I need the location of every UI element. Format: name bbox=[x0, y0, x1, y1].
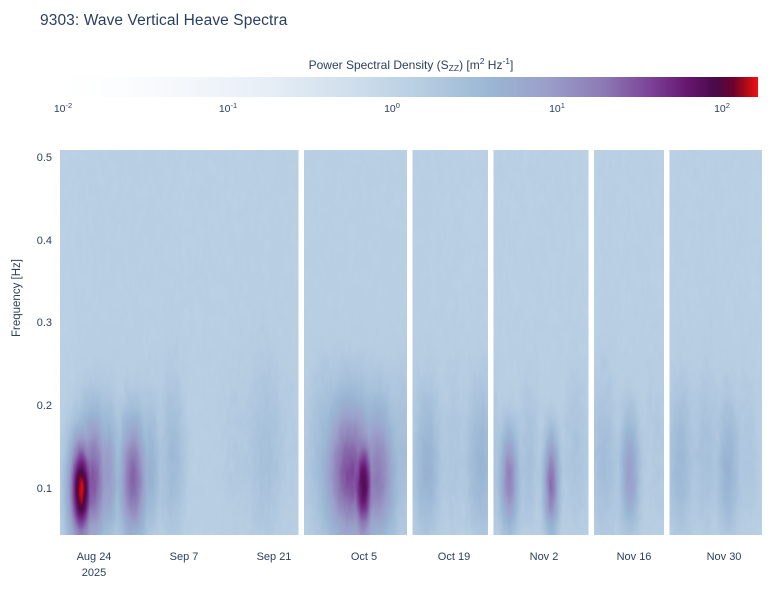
colorbar-title-mid: ) [m bbox=[459, 58, 480, 72]
x-axis-tick-7: Nov 30 bbox=[707, 549, 742, 565]
y-axis-label: Frequency [Hz] bbox=[11, 243, 23, 353]
colorbar-tick-1: 10-1 bbox=[219, 103, 237, 115]
y-axis-tick-0: 0.5 bbox=[37, 152, 52, 164]
x-axis-tick-1: Sep 7 bbox=[170, 549, 199, 565]
colorbar-tick-4: 102 bbox=[714, 103, 730, 115]
x-axis-tick-6: Nov 16 bbox=[617, 549, 652, 565]
colorbar-title: Power Spectral Density (SZZ) [m2 Hz-1] bbox=[60, 58, 762, 72]
colorbar-title-sup-area: 2 bbox=[480, 56, 485, 66]
colorbar-title-sup-hz: -1 bbox=[502, 56, 510, 66]
colorbar-tick-0: 10-2 bbox=[54, 103, 72, 115]
heatmap-canvas[interactable] bbox=[60, 150, 762, 535]
y-axis-tick-1: 0.4 bbox=[37, 235, 52, 247]
y-axis-tick-3: 0.2 bbox=[37, 400, 52, 412]
colorbar-title-suffix: ] bbox=[510, 58, 513, 72]
colorbar-tick-3: 101 bbox=[549, 103, 565, 115]
colorbar-title-prefix: Power Spectral Density (S bbox=[309, 58, 449, 72]
x-axis-tick-5: Nov 2 bbox=[530, 549, 559, 565]
y-axis-ticks: 0.50.40.30.20.1 bbox=[0, 0, 52, 615]
colorbar-title-subscript: ZZ bbox=[449, 63, 459, 73]
page-title: 9303: Wave Vertical Heave Spectra bbox=[40, 12, 287, 30]
colorbar-title-unit: Hz bbox=[484, 58, 502, 72]
x-axis-tick-4: Oct 19 bbox=[438, 549, 470, 565]
colorbar-gradient bbox=[60, 77, 758, 97]
x-axis-tick-2: Sep 21 bbox=[257, 549, 292, 565]
x-axis-tick-0: Aug 242025 bbox=[77, 549, 112, 581]
x-axis-tick-3: Oct 5 bbox=[351, 549, 377, 565]
colorbar-tick-2: 100 bbox=[384, 103, 400, 115]
y-axis-tick-4: 0.1 bbox=[37, 483, 52, 495]
colorbar-tick-labels: 10-210-1100101102 bbox=[0, 103, 780, 119]
spectrogram-plot: 9303: Wave Vertical Heave Spectra Power … bbox=[0, 0, 780, 615]
y-axis-tick-2: 0.3 bbox=[37, 317, 52, 329]
